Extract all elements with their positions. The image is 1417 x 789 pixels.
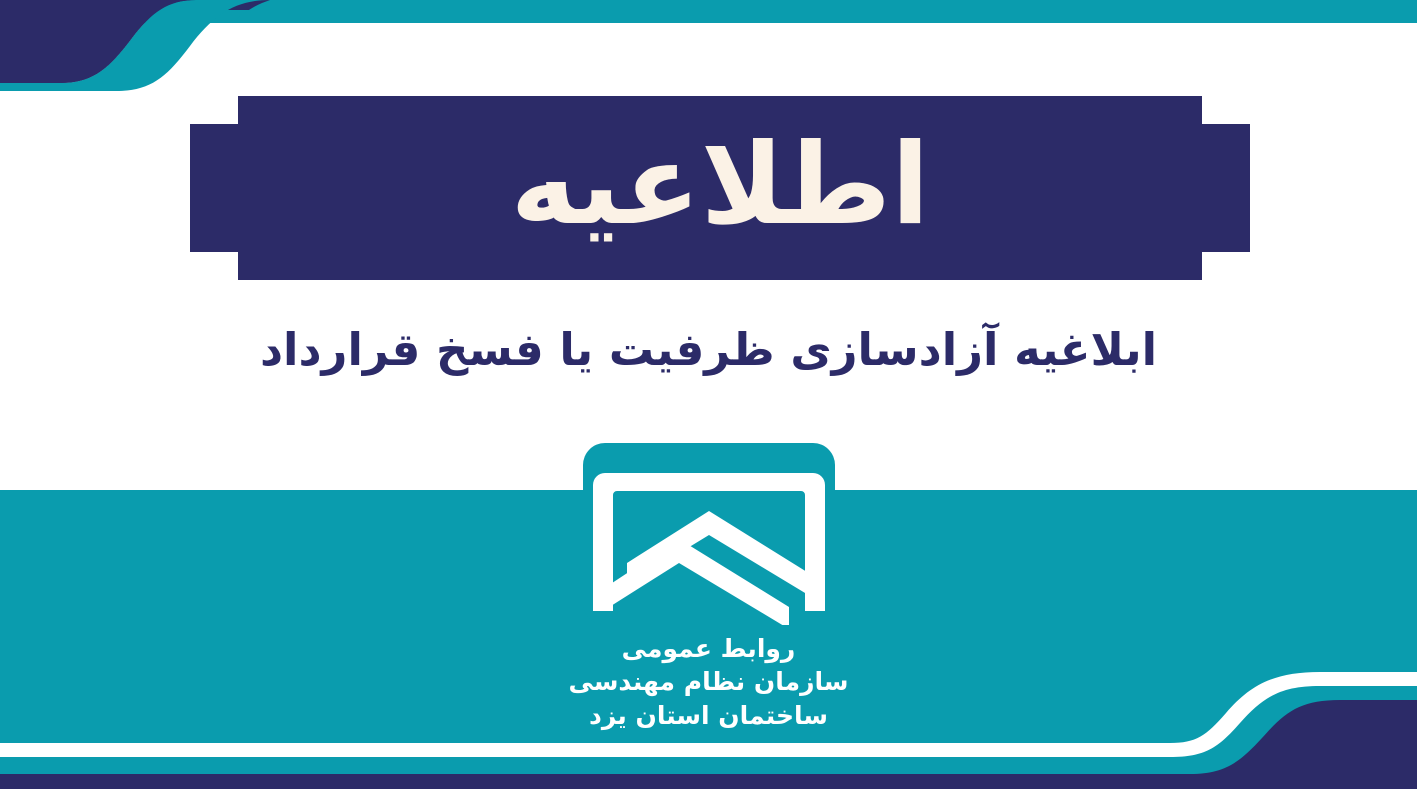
org-line-organization: سازمان نظام مهندسی — [0, 665, 1417, 698]
organization-credit: روابط عمومی سازمان نظام مهندسی ساختمان ا… — [0, 632, 1417, 732]
building-roof-logo-icon — [583, 443, 835, 625]
org-line-public-relations: روابط عمومی — [0, 632, 1417, 665]
poster-canvas: اطلاعیه ابلاغیه آزادسازی ظرفیت یا فسخ قر… — [0, 0, 1417, 789]
page-title: اطلاعیه — [190, 96, 1250, 280]
org-line-province: ساختمان استان یزد — [0, 699, 1417, 732]
organization-logo — [583, 443, 835, 625]
bottom-navy-bar — [0, 778, 1417, 789]
top-teal-connector — [232, 0, 1417, 23]
subtitle-text: ابلاغیه آزادسازی ظرفیت یا فسخ قرارداد — [0, 322, 1417, 378]
title-banner: اطلاعیه — [190, 96, 1250, 280]
